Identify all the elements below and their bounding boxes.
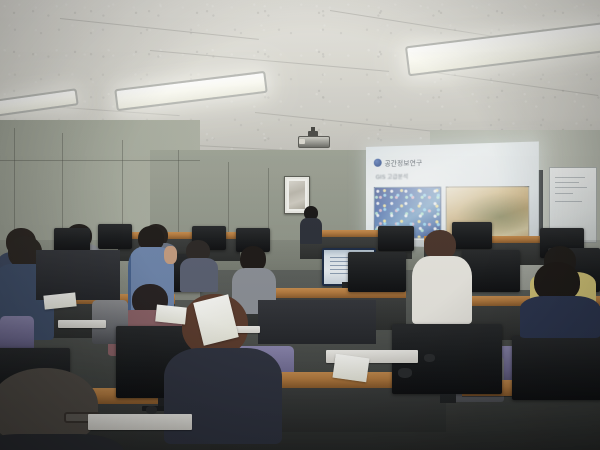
keyboard[interactable] xyxy=(88,414,192,430)
mouse[interactable] xyxy=(424,354,435,362)
ceiling-projector xyxy=(296,131,330,146)
slide-subtitle: GIS 고급분석 xyxy=(376,172,409,181)
wall-seam-horizontal xyxy=(0,160,200,161)
monitor xyxy=(512,336,600,400)
wall-seam xyxy=(228,162,229,242)
monitor xyxy=(98,224,132,249)
mouse[interactable] xyxy=(146,406,157,414)
monitor xyxy=(348,252,406,292)
classroom-photo: 공간정보연구 GIS 고급분석 xyxy=(0,0,600,450)
paper-document xyxy=(332,354,369,382)
paper-document xyxy=(155,304,187,324)
monitor xyxy=(378,226,414,251)
monitor xyxy=(452,222,492,249)
raised-hand xyxy=(164,246,177,264)
desk-divider xyxy=(258,300,376,344)
slide-logo-icon xyxy=(374,159,382,167)
desk-divider xyxy=(36,250,120,300)
mouse[interactable] xyxy=(398,368,412,378)
slide-title: 공간정보연구 xyxy=(385,157,423,168)
keyboard[interactable] xyxy=(58,320,106,328)
monitor-stand xyxy=(440,394,456,403)
